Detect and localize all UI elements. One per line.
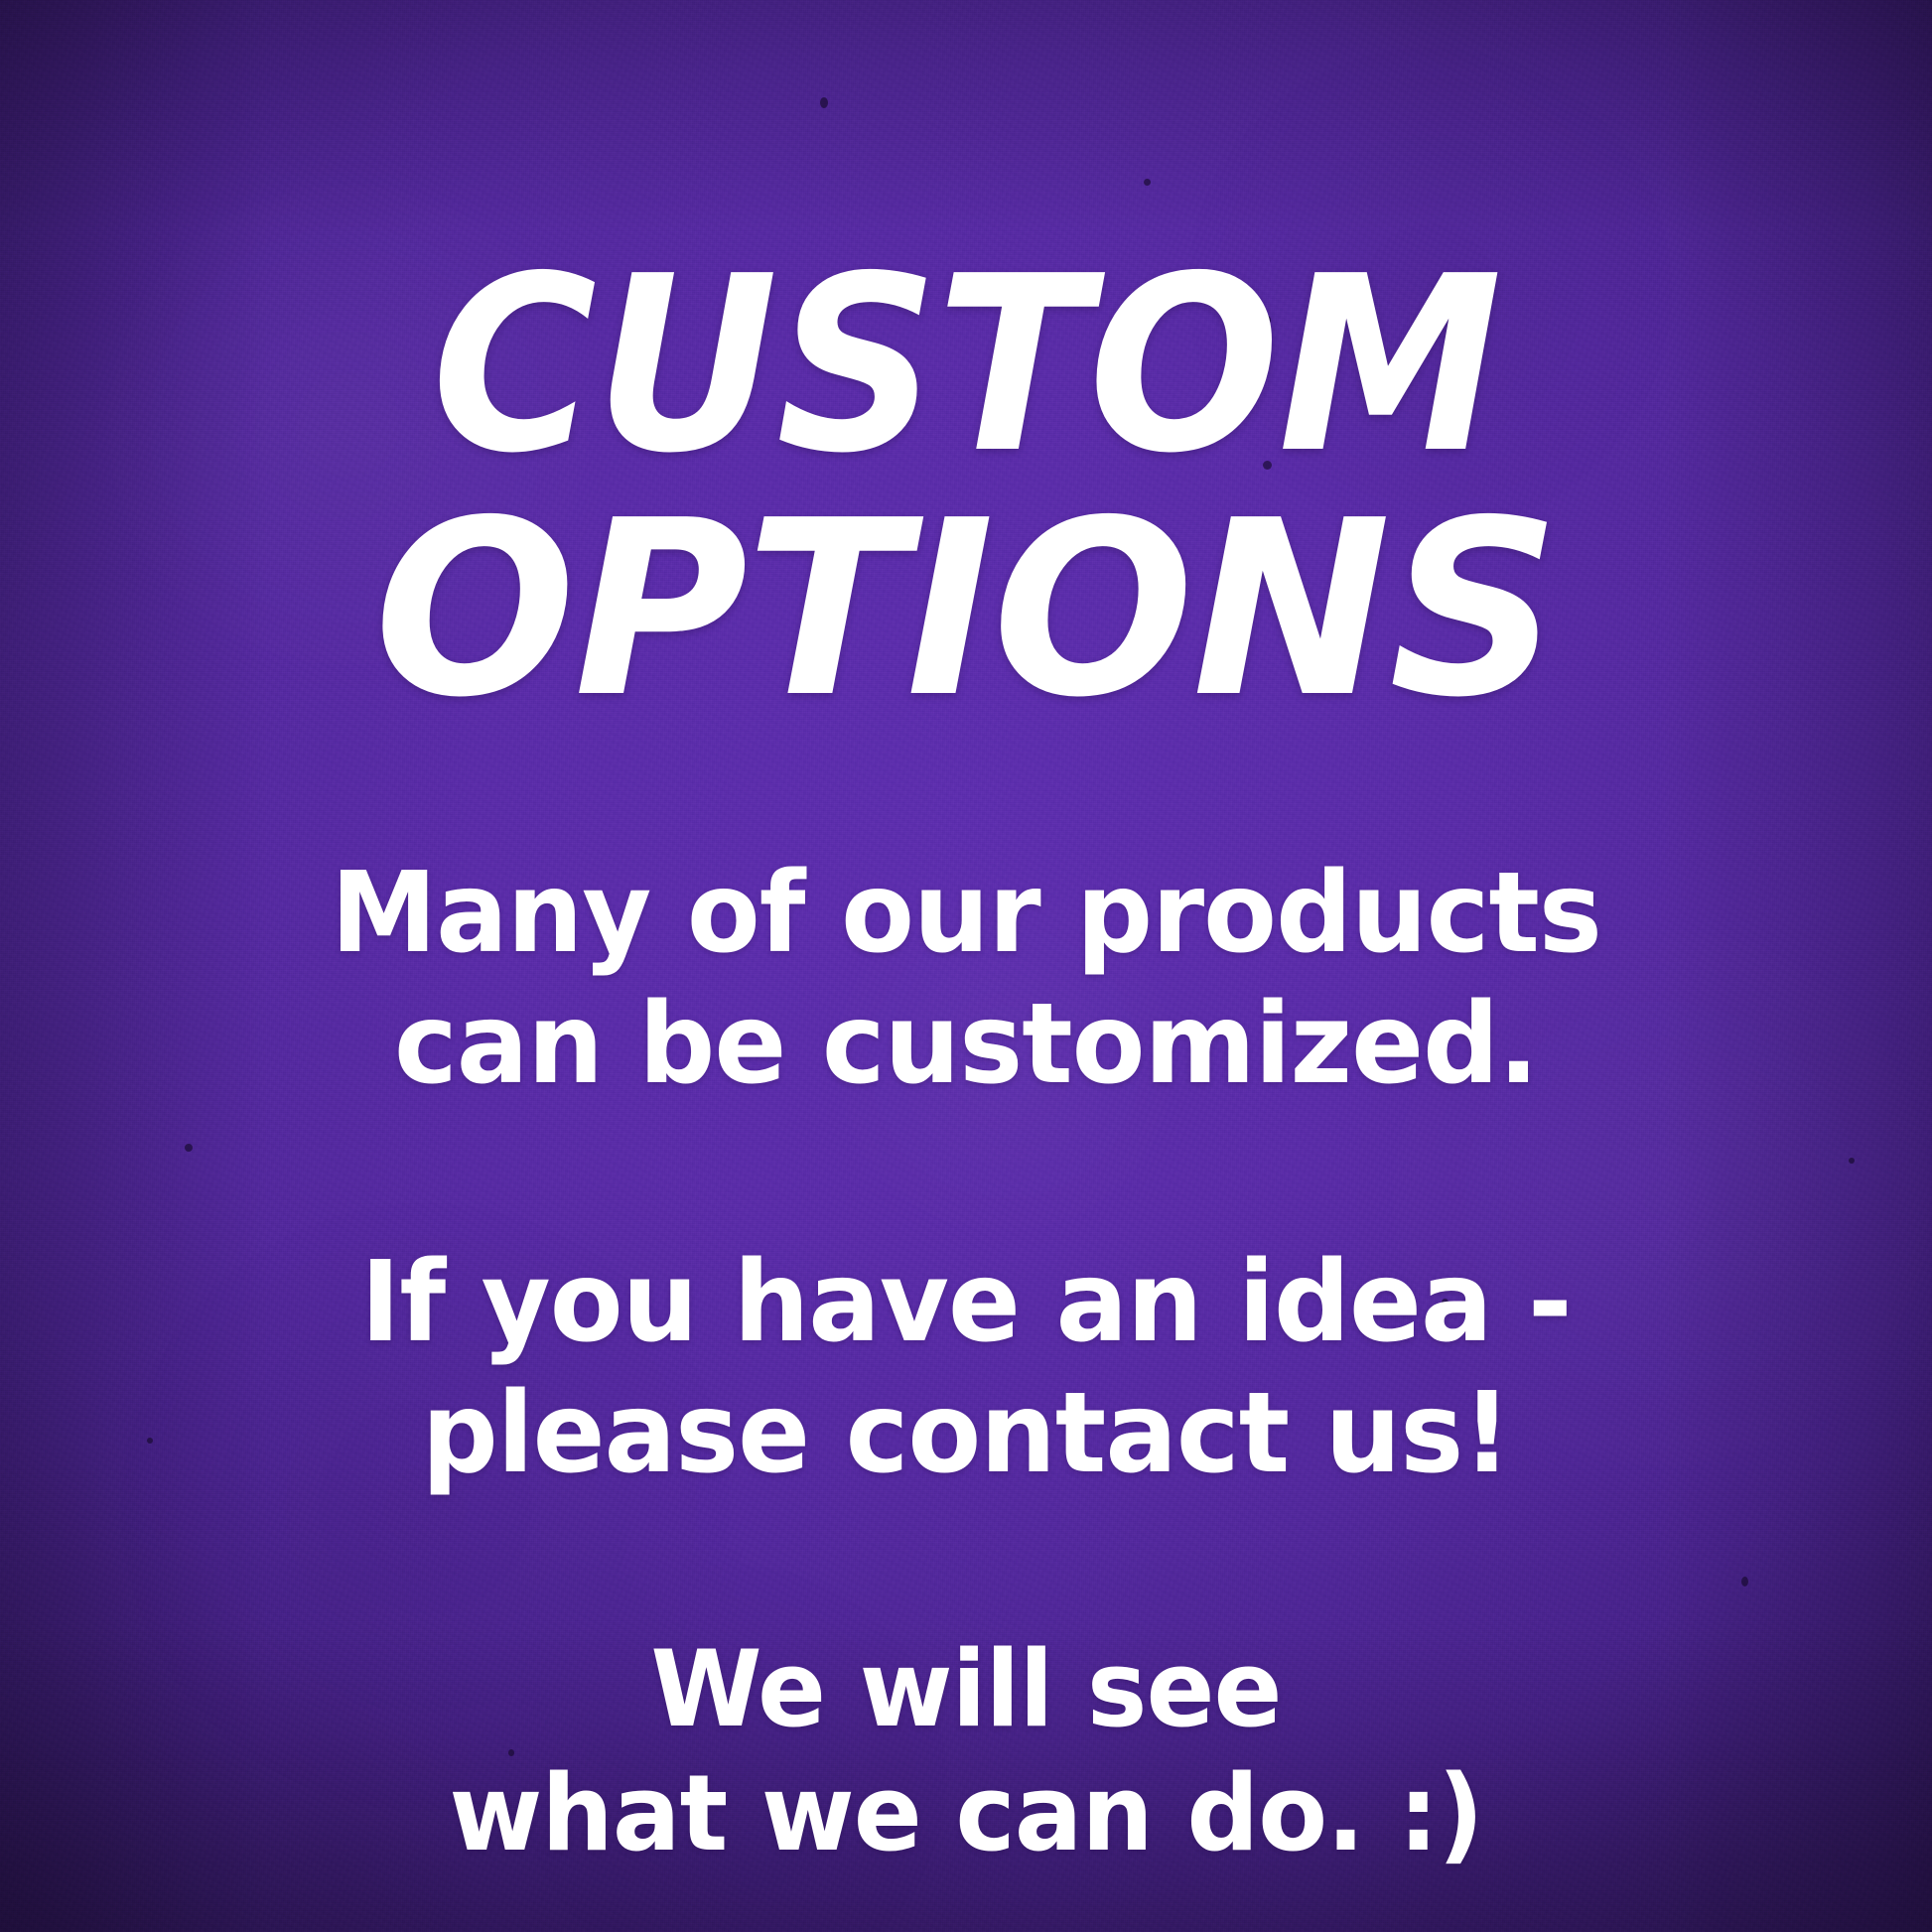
page-title-line-1: CUSTOM — [68, 247, 1864, 484]
paragraph-customizable-line-2: can be customized. — [39, 979, 1893, 1110]
paragraph-customizable: Many of our products can be customized. — [0, 848, 1932, 1110]
page-title: CUSTOM OPTIONS — [0, 247, 1932, 728]
paragraph-closing-line-2: what we can do. :) — [39, 1751, 1893, 1875]
paragraph-contact-invite: If you have an idea - please contact us! — [0, 1237, 1932, 1499]
paragraph-closing: We will see what we can do. :) — [0, 1627, 1932, 1875]
paragraph-contact-invite-line-1: If you have an idea - — [39, 1237, 1893, 1368]
paragraph-customizable-line-1: Many of our products — [39, 848, 1893, 979]
page-title-line-2: OPTIONS — [19, 491, 1912, 729]
custom-options-poster: CUSTOM OPTIONS Many of our products can … — [0, 0, 1932, 1932]
paragraph-contact-invite-line-2: please contact us! — [39, 1368, 1893, 1499]
paragraph-closing-line-1: We will see — [39, 1627, 1893, 1751]
body-copy: Many of our products can be customized. … — [0, 737, 1932, 1932]
poster-content: CUSTOM OPTIONS Many of our products can … — [0, 0, 1932, 1932]
